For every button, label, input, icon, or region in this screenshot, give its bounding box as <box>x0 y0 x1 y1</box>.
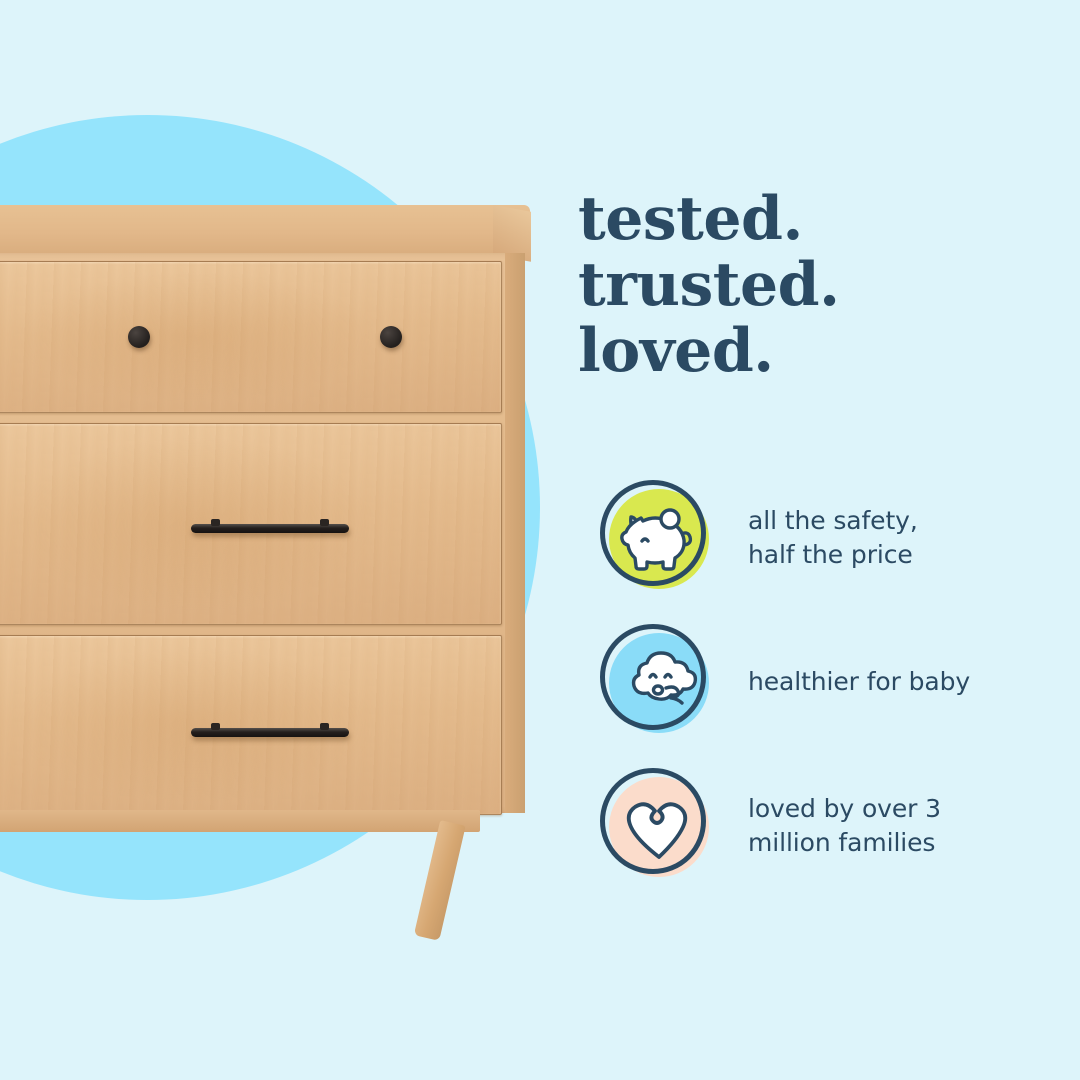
drawer-knob-left <box>128 326 150 348</box>
feature-item-loved: loved by over 3 million families <box>600 754 1040 898</box>
feature-label-savings: all the safety, half the price <box>748 504 918 572</box>
feature-list: all the safety, half the price <box>600 466 1040 898</box>
pull-post-left <box>211 723 220 730</box>
drawer-bar-pull-middle <box>191 524 349 533</box>
promo-poster: tested. trusted. loved. <box>0 0 1080 1080</box>
headline-line-3: loved. <box>578 318 839 384</box>
heart-icon <box>609 777 709 877</box>
feature-label-line-2: million families <box>748 826 941 860</box>
feature-item-air-quality: healthier for baby <box>600 610 1040 754</box>
dresser-base-rail <box>0 810 480 832</box>
feature-badge-loved <box>600 768 716 884</box>
feature-badge-savings <box>600 480 716 596</box>
content-column: tested. trusted. loved. <box>578 0 1048 1080</box>
headline-line-2: trusted. <box>578 252 839 318</box>
page-title: tested. trusted. loved. <box>578 186 839 384</box>
pull-post-right <box>320 519 329 526</box>
dresser-top-surface <box>0 205 530 255</box>
pull-post-left <box>211 519 220 526</box>
wood-grain-texture <box>0 636 501 814</box>
feature-label-line-1: loved by over 3 <box>748 792 941 826</box>
drawer-knob-right <box>380 326 402 348</box>
wood-grain-texture <box>0 262 501 412</box>
dresser-right-side-panel <box>505 253 525 813</box>
smiling-cloud-icon <box>609 633 709 733</box>
feature-label-line-1: healthier for baby <box>748 665 970 699</box>
feature-label-air-quality: healthier for baby <box>748 665 970 699</box>
feature-label-loved: loved by over 3 million families <box>748 792 941 860</box>
feature-label-line-2: half the price <box>748 538 918 572</box>
feature-label-line-1: all the safety, <box>748 504 918 538</box>
feature-badge-air-quality <box>600 624 716 740</box>
piggy-bank-icon <box>609 489 709 589</box>
pull-post-right <box>320 723 329 730</box>
drawer-bar-pull-bottom <box>191 728 349 737</box>
feature-item-savings: all the safety, half the price <box>600 466 1040 610</box>
drawer-middle-right <box>0 423 502 625</box>
product-image-dresser <box>0 205 530 905</box>
dresser-leg-right <box>414 820 466 941</box>
dresser-case <box>0 253 525 813</box>
drawer-bottom-right <box>0 635 502 815</box>
drawer-top-right <box>0 261 502 413</box>
headline-line-1: tested. <box>578 186 839 252</box>
